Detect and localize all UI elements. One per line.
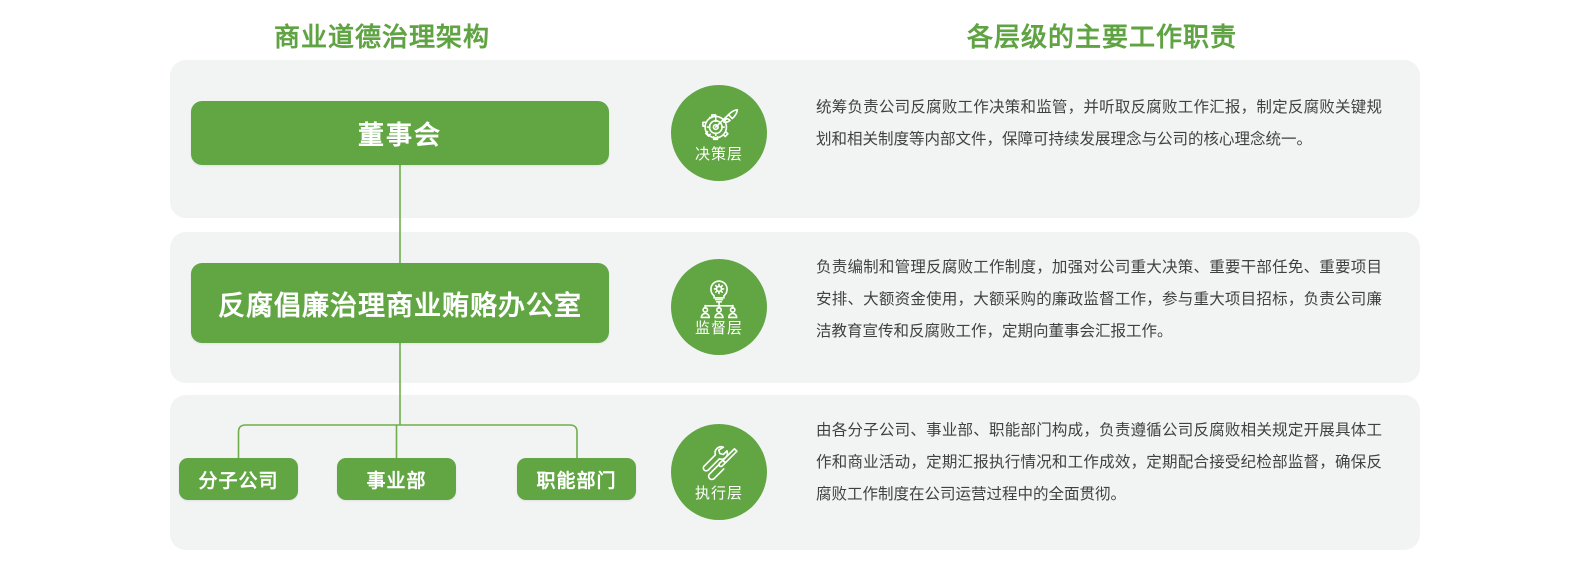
- node-board-of-directors[interactable]: 董事会: [191, 101, 609, 165]
- node-functional-department[interactable]: 职能部门: [517, 458, 636, 500]
- node-subsidiary-label: 分子公司: [198, 466, 278, 493]
- level-label-execution: 执行层: [695, 486, 743, 501]
- node-board-label: 董事会: [358, 115, 442, 152]
- level-badge-execution[interactable]: 执行层: [671, 424, 767, 520]
- node-business-unit[interactable]: 事业部: [337, 458, 456, 500]
- node-office-label: 反腐倡廉治理商业贿赂办公室: [218, 284, 582, 323]
- description-execution: 由各分子公司、事业部、职能部门构成，负责遵循公司反腐败相关规定开展具体工作和商业…: [816, 415, 1382, 511]
- header-title-right: 各层级的主要工作职责: [967, 17, 1237, 54]
- node-anticorruption-office[interactable]: 反腐倡廉治理商业贿赂办公室: [191, 263, 609, 343]
- node-subsidiary[interactable]: 分子公司: [179, 458, 298, 500]
- level-label-supervision: 监督层: [695, 321, 743, 336]
- description-decision: 统筹负责公司反腐败工作决策和监管，并听取反腐败工作汇报，制定反腐败关键规划和相关…: [816, 92, 1382, 156]
- wrench-screwdriver-icon: [696, 444, 742, 484]
- level-badge-decision[interactable]: 决策层: [671, 85, 767, 181]
- level-badge-supervision[interactable]: 监督层: [671, 259, 767, 355]
- level-label-decision: 决策层: [695, 147, 743, 162]
- description-supervision: 负责编制和管理反腐败工作制度，加强对公司重大决策、重要干部任免、重要项目安排、大…: [816, 252, 1382, 348]
- header-title-left: 商业道德治理架构: [274, 17, 490, 54]
- infographic-canvas: 商业道德治理架构 各层级的主要工作职责 董事会 反腐倡廉治理商业贿赂办公室 分子…: [0, 0, 1573, 567]
- node-business-unit-label: 事业部: [366, 466, 426, 493]
- lightbulb-team-icon: [696, 279, 742, 319]
- gear-target-icon: [696, 105, 742, 145]
- node-functional-department-label: 职能部门: [536, 466, 616, 493]
